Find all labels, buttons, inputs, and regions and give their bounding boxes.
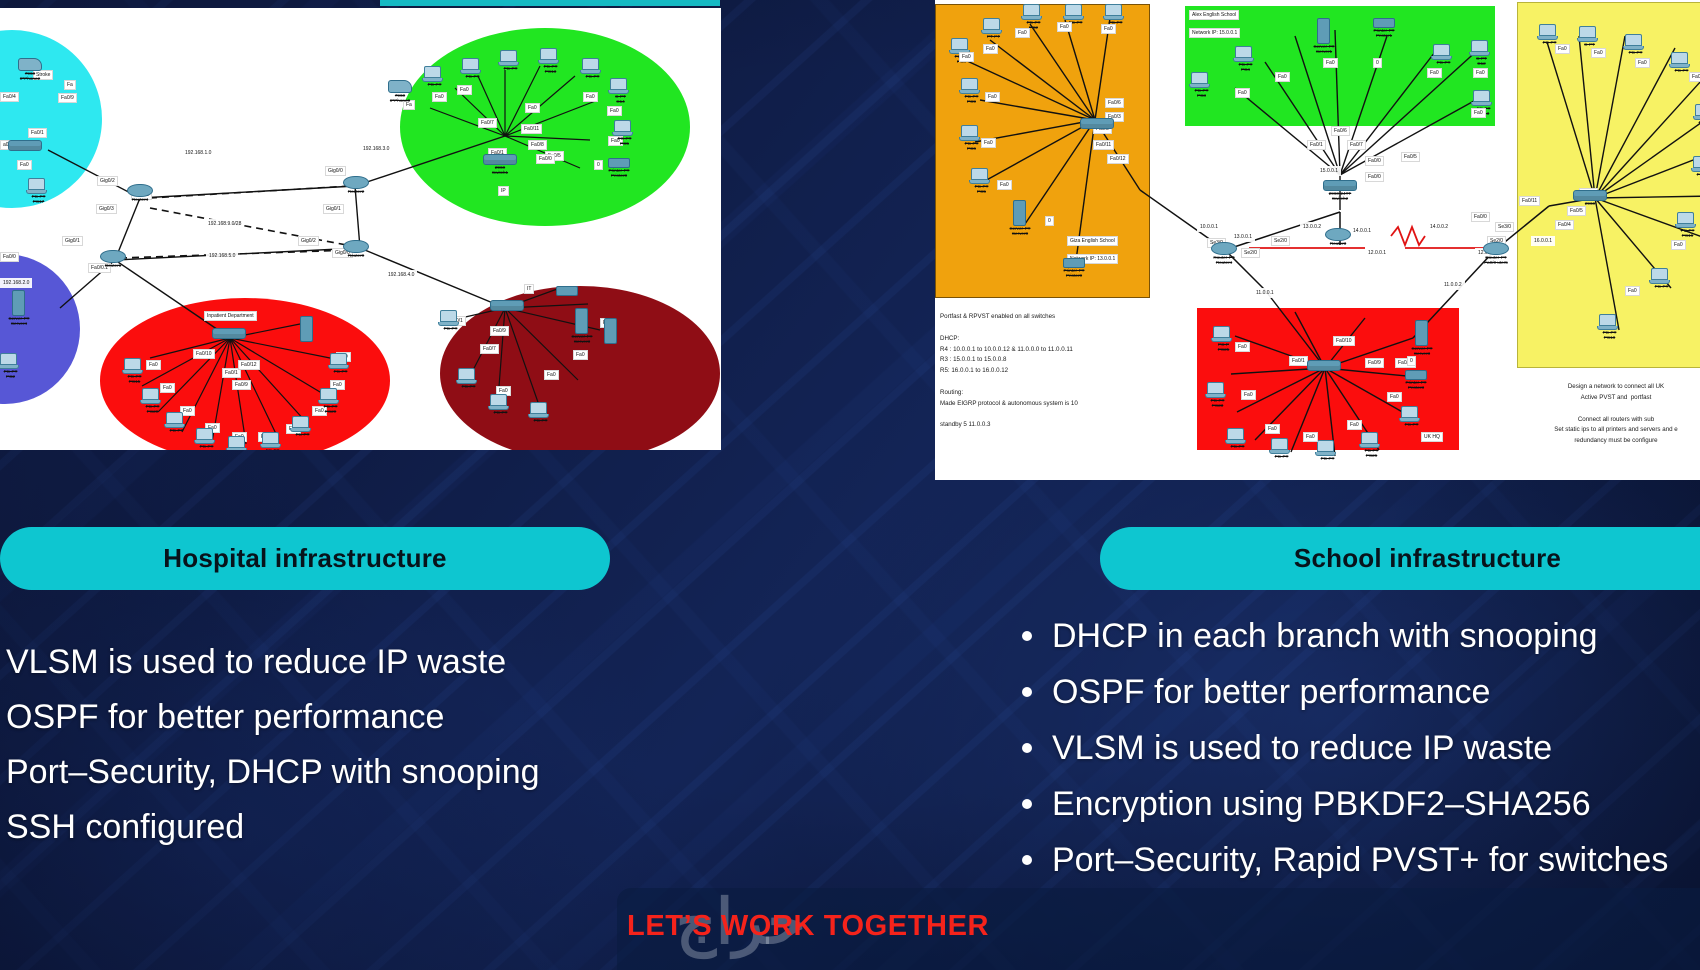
interface-label: Fa0/1 <box>1289 356 1308 366</box>
interface-label: Gig0/2 <box>97 176 118 186</box>
pc-device: PC-PT <box>1693 156 1700 177</box>
router-device: Router2 <box>343 176 376 194</box>
interface-label: Fa0 <box>583 92 598 102</box>
interface-label: Gig0/1 <box>62 236 83 246</box>
pc-device: C-PTC14 <box>610 78 637 105</box>
router-device: Router1 <box>100 250 133 268</box>
server-device: Server-PTServer1 <box>1317 18 1341 55</box>
ip-phone-device: 7960IPPhone2 <box>18 58 50 82</box>
pc-device: PC-PTPC20 <box>142 388 169 415</box>
school-notes-right: Design a network to connect all UK Activ… <box>1501 382 1700 447</box>
switch-device <box>8 140 42 151</box>
pc-device: PC-PTPC29 <box>320 388 347 415</box>
school-notes-left: Portfast & RPVST enabled on all switches… <box>940 312 1190 431</box>
interface-label: Fa0/8 <box>528 140 547 150</box>
interface-label: Fa0/7 <box>480 344 499 354</box>
subnet-label: 192.168.9.0/28 <box>205 219 244 229</box>
interface-label: 0 <box>1407 356 1416 366</box>
router-device: Router0 <box>343 240 376 258</box>
printer-device <box>556 286 585 296</box>
interface-label: Fa0 <box>1015 28 1030 38</box>
interface-label: Fa0/0 <box>0 252 19 262</box>
pc-device: PC-PT <box>196 428 223 449</box>
interface-label: Fa0 <box>1241 390 1256 400</box>
pc-device: PC-PT <box>1671 52 1698 73</box>
server-device: Server-PTServer4 <box>12 290 36 327</box>
pc-device: PT-PT <box>983 18 1010 39</box>
interface-label: Fa <box>64 80 76 90</box>
switch-device: 2960-24TTSwitch2 <box>1323 180 1357 202</box>
pc-device: PC-PTPC4 <box>1235 46 1262 73</box>
interface-label: Fa0/9 <box>232 380 251 390</box>
interface-label: 0 <box>1045 216 1054 226</box>
interface-label: Gig0/3 <box>96 204 117 214</box>
printer-device: Printer-PTPrinter0 <box>608 158 637 179</box>
hospital-feature-item: SSH configured <box>6 800 766 855</box>
interface-label: Fa0/5 <box>1567 206 1586 216</box>
pc-device: PC-PT <box>1651 268 1678 289</box>
pc-device: PC-PT <box>1433 44 1460 65</box>
pc-device: PC-PT <box>500 50 527 71</box>
interface-label: Fa0/7 <box>478 118 497 128</box>
school-feature-list: DHCP in each branch with snooping OSPF f… <box>1010 608 1700 888</box>
section-pill-school-label: School infrastructure <box>1294 543 1561 574</box>
switch-device <box>490 300 524 311</box>
pc-device: PC-PTPC5 <box>971 168 998 195</box>
interface-label: Fa0 <box>432 92 447 102</box>
server-device: Server-PTServer3 <box>1415 320 1439 357</box>
cta-label: LET’S WORK TOGETHER <box>627 910 989 943</box>
interface-label: Fa0 <box>1275 72 1290 82</box>
zone-label-inpatient: Inpatient Department <box>204 311 257 321</box>
pc-device: PC-PT <box>530 402 557 423</box>
interface-label: Fa0 <box>1235 88 1250 98</box>
section-pill-school[interactable]: School infrastructure <box>1100 527 1700 590</box>
school-topology-image: Alex English School Network IP: 15.0.0.1… <box>935 0 1700 480</box>
ip-phone-device: 7960IPPhone0 <box>388 80 420 104</box>
interface-label: Fa0 <box>1387 392 1402 402</box>
pc-device: PC-PTPC26 <box>1361 432 1388 459</box>
zone-label-ip: IP <box>498 186 509 196</box>
pc-device: PC-PTPC5 <box>614 120 641 147</box>
pc-device: C-PTC12 <box>1471 40 1498 67</box>
interface-label: Fa0 <box>1555 44 1570 54</box>
subnet-label: 192.168.4.0 <box>385 270 417 280</box>
interface-label: Fa0 <box>983 44 998 54</box>
interface-label: Fa0 <box>1625 286 1640 296</box>
ip-label: 11.0.0.2 <box>1441 280 1465 290</box>
interface-label: Fa0/9 <box>1365 358 1384 368</box>
interface-label: Fa0 <box>1347 420 1362 430</box>
interface-label: Fa0/9 <box>490 326 509 336</box>
interface-label: Fa0/4 <box>1555 220 1574 230</box>
interface-label: Fa0 <box>1591 48 1606 58</box>
pc-device: PC-PT <box>1317 440 1344 461</box>
interface-label: Fa0/1 <box>1307 140 1326 150</box>
interface-label: Fa0/0 <box>1471 212 1490 222</box>
interface-label: Fa0 <box>573 350 588 360</box>
router-device: Router-PTRouter4 <box>1211 242 1244 266</box>
switch-device <box>1080 118 1114 129</box>
school-feature-item: DHCP in each branch with snooping <box>1010 608 1700 664</box>
ip-label: 13.0.0.1 <box>1231 232 1255 242</box>
pc-device: PC-PTPC18 <box>1599 314 1626 341</box>
switch-device <box>1307 360 1341 371</box>
pc-device: PC-PT <box>490 394 517 415</box>
subnet-label: 192.168.1.0 <box>182 148 214 158</box>
pc-device: PC-PT <box>1227 428 1254 449</box>
subnet-label: 192.168.5.0 <box>206 251 238 261</box>
ip-label: 10.0.0.1 <box>1197 222 1221 232</box>
switch-device <box>212 328 246 339</box>
printer-device: Printer-PTPrinter1 <box>1373 18 1402 39</box>
top-accent-strip <box>380 0 720 6</box>
interface-label: Fa0 <box>17 160 32 170</box>
interface-label: Fa0 <box>1689 72 1700 82</box>
pc-device: PC-PTPC3 <box>1191 72 1218 99</box>
interface-label: Fa0 <box>1427 68 1442 78</box>
pc-device: C-PT <box>1579 26 1606 47</box>
server-device <box>300 316 324 342</box>
printer-device: Printer-PTPrinter0 <box>1063 258 1092 279</box>
interface-label: Fa0 <box>1057 22 1072 32</box>
zone-label-ukhq: UK HQ <box>1421 432 1443 442</box>
pc-device: PC-PT <box>1105 4 1132 25</box>
hospital-feature-item: OSPF for better performance <box>6 690 766 745</box>
interface-label: Fa0 <box>525 103 540 113</box>
interface-label: Fa0 <box>1635 58 1650 68</box>
interface-label: 0 <box>1373 58 1382 68</box>
pc-device: PC-PTPC15 <box>124 358 151 385</box>
interface-label: Fa0/10 <box>193 349 215 359</box>
interface-label: Fa0 <box>1473 68 1488 78</box>
server-device: Server-PTServer0 <box>1013 200 1037 237</box>
server-device: Server-PTServer3 <box>575 308 599 345</box>
hospital-link-lines <box>0 8 721 450</box>
interface-label: Fa0/0 <box>1365 172 1384 182</box>
interface-label: Fa0 <box>959 52 974 62</box>
interface-label: Fa0/0 <box>536 154 555 164</box>
interface-label: Fa0/10 <box>1333 336 1355 346</box>
pc-device: PC-PT <box>1271 438 1298 459</box>
interface-label: Fa0 <box>1471 108 1486 118</box>
pc-device: PC-PTPC13 <box>540 48 567 75</box>
hospital-feature-list: VLSM is used to reduce IP waste OSPF for… <box>6 635 766 855</box>
hospital-feature-item: VLSM is used to reduce IP waste <box>6 635 766 690</box>
pc-device: PC-PT <box>330 353 357 374</box>
subnet-label: 192.168.3.0 <box>360 144 392 154</box>
hospital-topology-image: Stroke IP Inpatient Department IT 192.16… <box>0 8 721 450</box>
school-feature-item: VLSM is used to reduce IP waste <box>1010 720 1700 776</box>
pc-device: PC-PT <box>1695 104 1700 125</box>
pc-device: PC-PT <box>440 310 467 331</box>
interface-label: Fa0/4 <box>0 92 19 102</box>
pc-device: PC-PT <box>462 58 489 79</box>
interface-label: Fa0/11 <box>1519 196 1540 206</box>
interface-label: Fa0 <box>544 370 559 380</box>
interface-label: Fa0/9 <box>58 93 77 103</box>
ip-label: 13.0.0.2 <box>1300 222 1324 232</box>
interface-label: Se2/0 <box>1271 236 1290 246</box>
pc-device: PC-PTPC2 <box>1023 4 1050 31</box>
interface-label: Fa0/11 <box>1093 140 1114 150</box>
ip-label: 15.0.0.1 <box>1317 166 1341 176</box>
switch-device: 2960Switch1 <box>483 154 517 176</box>
interface-label: Gig0/2 <box>298 236 319 246</box>
pc-device: PC-PT <box>1539 24 1566 45</box>
pc-device: PC-PT <box>582 58 609 79</box>
ip-label: 16.0.0.1 <box>1531 236 1555 246</box>
pc-device: PC-PTPC23 <box>1207 382 1234 409</box>
interface-label: Fa0 <box>1101 24 1116 34</box>
interface-label: Fa0 <box>1671 240 1686 250</box>
interface-label: Se3/0 <box>1495 222 1514 232</box>
zone-label-it: IT <box>524 284 534 294</box>
interface-label: Fa0/12 <box>1107 154 1129 164</box>
presentation-slide: Stroke IP Inpatient Department IT 192.16… <box>0 0 1700 970</box>
ip-label: 14.0.0.2 <box>1427 222 1451 232</box>
interface-label: Gig0/0 <box>325 166 346 176</box>
pc-device: PC-PT <box>1401 406 1428 427</box>
interface-label: Fa0/6 <box>1331 126 1350 136</box>
interface-label: Fa0/11 <box>521 124 542 134</box>
diagram-panels: Stroke IP Inpatient Department IT 192.16… <box>0 0 1700 452</box>
subnet-label: 192.168.2.0 <box>0 278 32 288</box>
interface-label: Fa0/1 <box>28 128 47 138</box>
pc-device: PC-PTPC17 <box>28 178 55 205</box>
printer-device: Printer-PTPrinter3 <box>1405 370 1434 391</box>
ip-label: 11.0.0.1 <box>1253 288 1277 298</box>
interface-label: Fa0/7 <box>1347 140 1366 150</box>
zone-label-giza: Giza English School <box>1067 236 1118 246</box>
ip-label: 12.0.0.1 <box>1365 248 1389 258</box>
interface-label: Fa0/0 <box>1365 156 1384 166</box>
interface-label: Gig0/1 <box>323 204 344 214</box>
switch-device: 2960 <box>1573 190 1607 206</box>
interface-label: Fa0 <box>1303 432 1318 442</box>
pc-device: PC-PT <box>262 432 289 450</box>
pc-device: PC-PT <box>228 436 255 450</box>
pc-device: PC-PTPC16 <box>1677 212 1700 239</box>
interface-label: Fa0/12 <box>238 360 260 370</box>
pc-device: PC-PT <box>1625 34 1652 55</box>
school-feature-item: Port–Security, Rapid PVST+ for switches <box>1010 832 1700 888</box>
interface-label: Fa0 <box>457 85 472 95</box>
interface-label: Fa0 <box>985 92 1000 102</box>
pc-device: PC-PTPC9 <box>961 78 988 105</box>
section-pill-hospital[interactable]: Hospital infrastructure <box>0 527 610 590</box>
pc-device: PC-PTPC2 <box>0 353 27 380</box>
interface-label: Fa0/6 <box>1105 98 1124 108</box>
interface-label: Fa0 <box>1323 58 1338 68</box>
interface-label: Fa0/5 <box>1401 152 1420 162</box>
school-feature-item: OSPF for better performance <box>1010 664 1700 720</box>
interface-label: Fa0 <box>981 138 996 148</box>
zone-label-alex: Alex English School <box>1189 10 1239 20</box>
pc-device: PC-PT <box>424 66 451 87</box>
server-device <box>604 318 628 344</box>
pc-device: PC-PT <box>292 416 319 437</box>
interface-label: Fa0 <box>607 106 622 116</box>
pc-device: PC-PT <box>458 368 485 389</box>
interface-label: Fa0 <box>997 180 1012 190</box>
interface-label: Fa0 <box>1235 342 1250 352</box>
school-feature-item: Encryption using PBKDF2–SHA256 <box>1010 776 1700 832</box>
interface-label: Fa0 <box>1265 424 1280 434</box>
hospital-feature-item: Port–Security, DHCP with snooping <box>6 745 766 800</box>
router-device: Router-PTFa0/0 uter5 <box>1483 242 1516 266</box>
pc-device: PC-PT <box>166 412 193 433</box>
section-pill-hospital-label: Hospital infrastructure <box>163 543 446 574</box>
zone-network-ip-alex: Network IP: 15.0.0.1 <box>1189 28 1240 38</box>
router-device: Router4 <box>127 184 160 202</box>
router-device: Router3 <box>1325 228 1358 246</box>
